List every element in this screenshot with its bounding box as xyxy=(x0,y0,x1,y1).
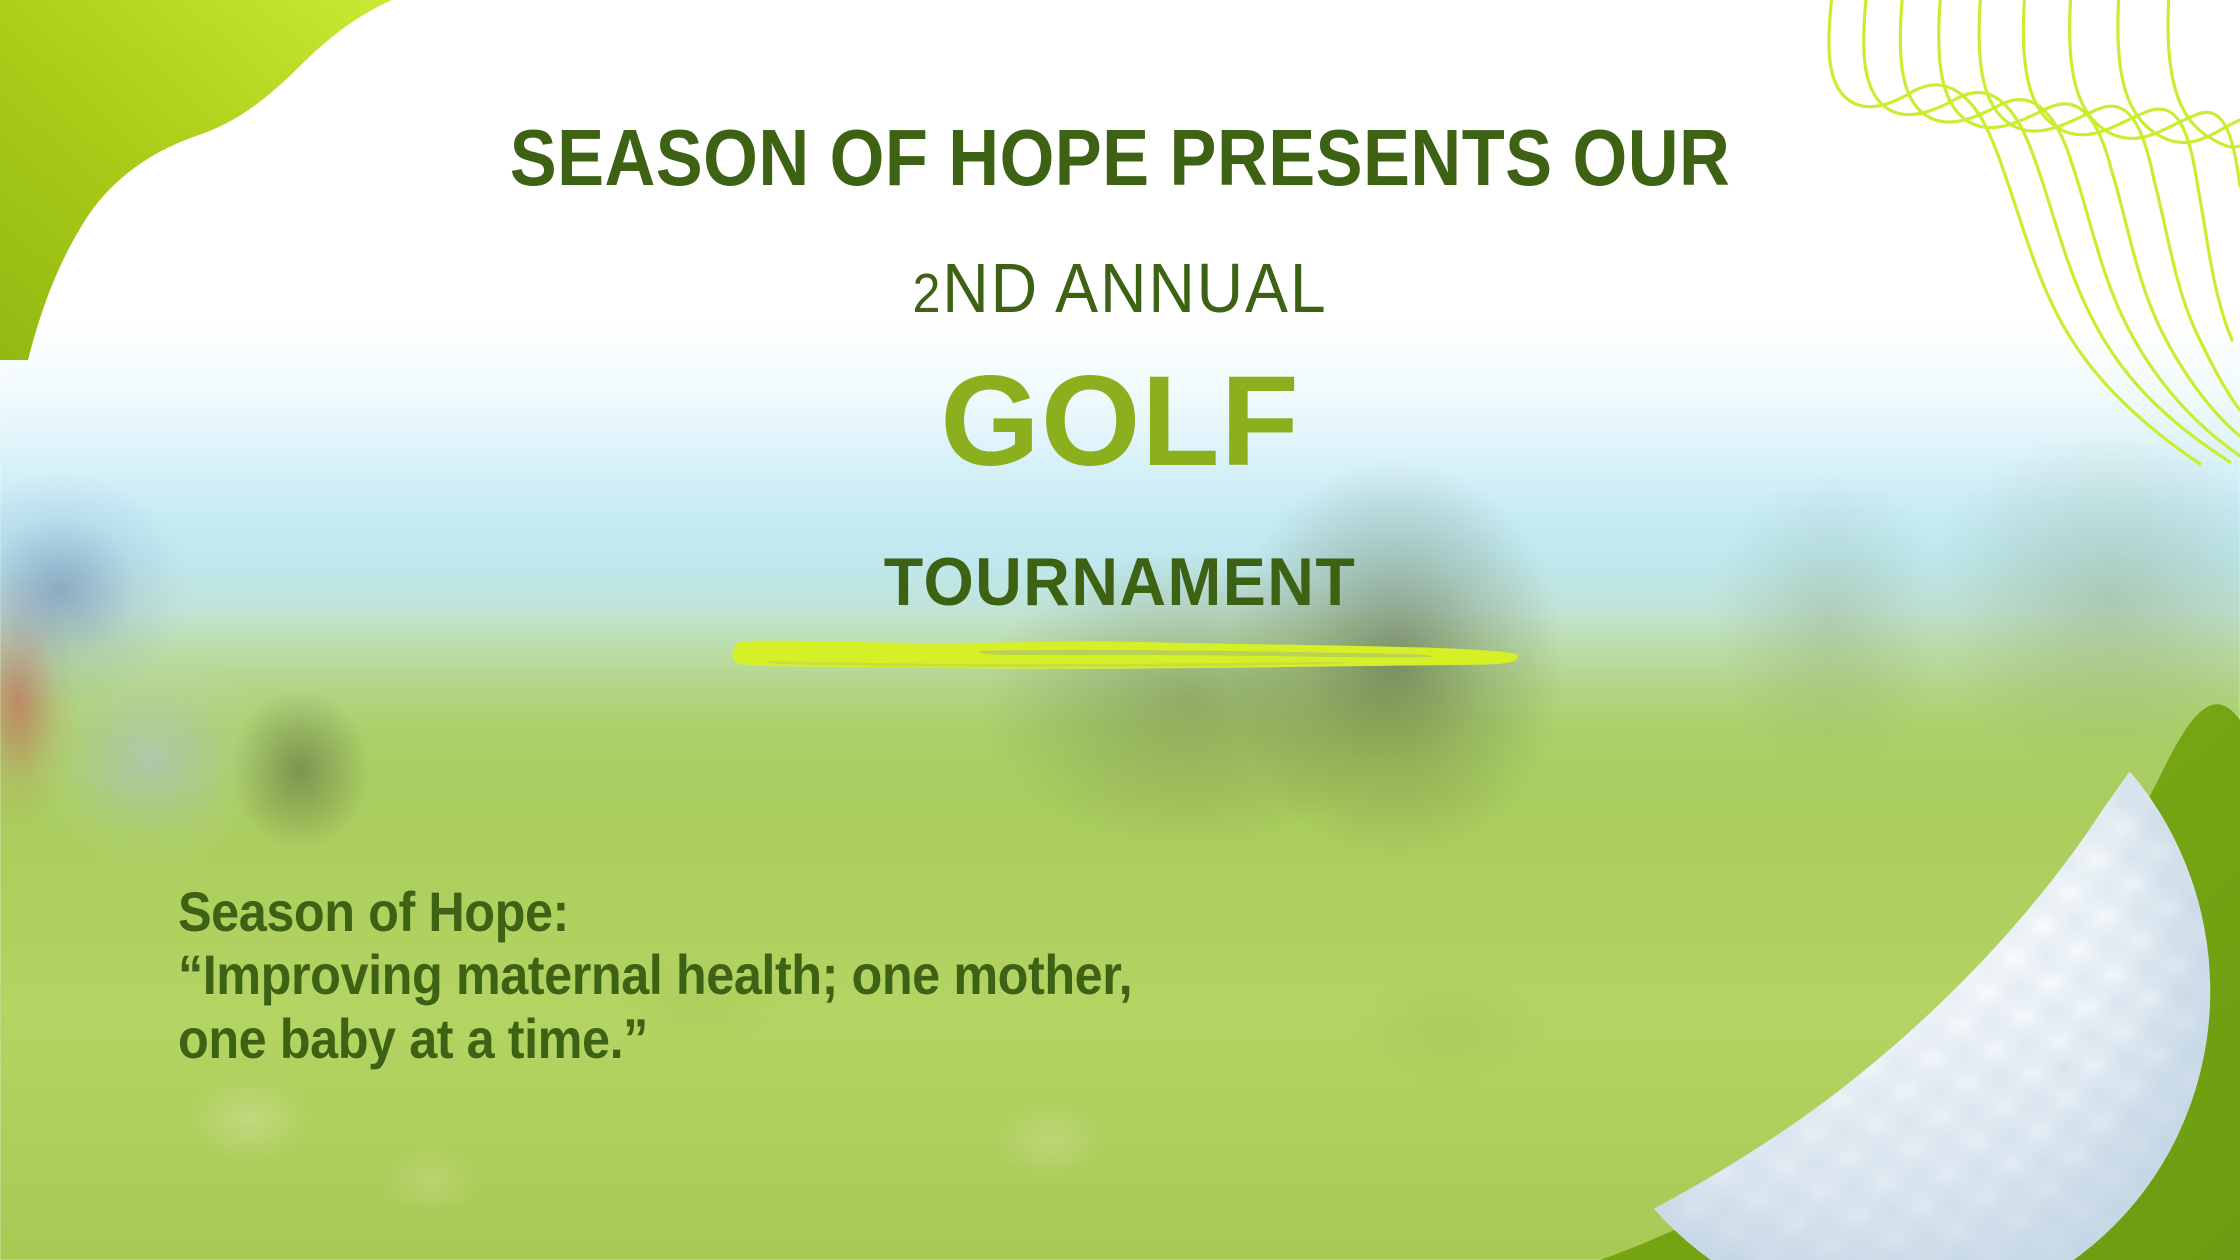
brush-stroke-underline-icon xyxy=(730,634,1520,674)
tagline-quote-line-2: one baby at a time.” xyxy=(178,1007,1132,1070)
tagline-quote-line-1: “Improving maternal health; one mother, xyxy=(178,943,1132,1006)
golf-word-headline: GOLF xyxy=(0,358,2240,486)
tagline-org-label: Season of Hope: xyxy=(178,880,1132,943)
golf-ball-sphere xyxy=(1540,640,2240,1260)
golf-ball-shading xyxy=(1540,640,2240,1260)
golf-ball-image xyxy=(1540,640,2240,1260)
bottom-right-corner-decoration xyxy=(1540,640,2240,1260)
tournament-word-headline: TOURNAMENT xyxy=(56,548,2184,616)
golf-tournament-flyer: SEASON OF HOPE PRESENTS OUR 2ND ANNUAL G… xyxy=(0,0,2240,1260)
presents-headline: SEASON OF HOPE PRESENTS OUR xyxy=(134,118,2105,198)
organization-tagline: Season of Hope: “Improving maternal heal… xyxy=(178,880,1132,1070)
edition-ordinal-suffix: ND ANNUAL xyxy=(942,249,1327,327)
edition-headline: 2ND ANNUAL xyxy=(90,253,2151,323)
edition-ordinal-number: 2 xyxy=(913,263,943,324)
